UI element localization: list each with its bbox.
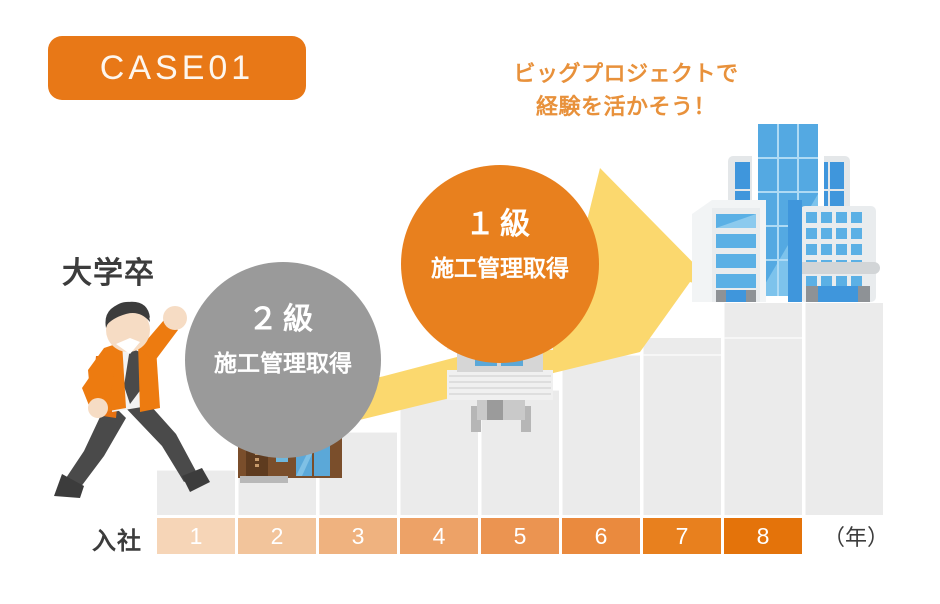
timeline-segment-1[interactable]: 1 [157,518,235,554]
timeline-segment-8[interactable]: 8 [724,518,802,554]
infographic-canvas: CASE01 ビッグプロジェクトで 経験を活かそう！ 大学卒 [0,0,940,604]
milestone-grade1-line2: 施工管理取得 [431,249,569,283]
catch-copy-line1: ビッグプロジェクトで [495,58,757,91]
case-badge: CASE01 [48,36,306,100]
milestone-bubble-grade1[interactable]: １級 施工管理取得 [401,165,599,363]
timeline-unit-label: （年） [823,520,889,552]
timeline-track: 12345678 [157,518,802,554]
timeline-segment-5[interactable]: 5 [481,518,559,554]
milestone-grade2-line2: 施工管理取得 [214,344,352,378]
timeline-segment-2[interactable]: 2 [238,518,316,554]
milestone-grade2-line1: ２級 [248,294,318,338]
case-badge-label: CASE01 [100,49,254,88]
timeline-entry-label: 入社 [92,521,142,556]
city-skyscrapers [692,104,900,302]
milestone-bubble-grade2[interactable]: ２級 施工管理取得 [185,262,381,458]
start-label: 大学卒 [62,248,155,292]
timeline-segment-4[interactable]: 4 [400,518,478,554]
timeline-segment-6[interactable]: 6 [562,518,640,554]
milestone-grade1-line1: １級 [465,199,535,243]
timeline-segment-7[interactable]: 7 [643,518,721,554]
timeline-segment-3[interactable]: 3 [319,518,397,554]
